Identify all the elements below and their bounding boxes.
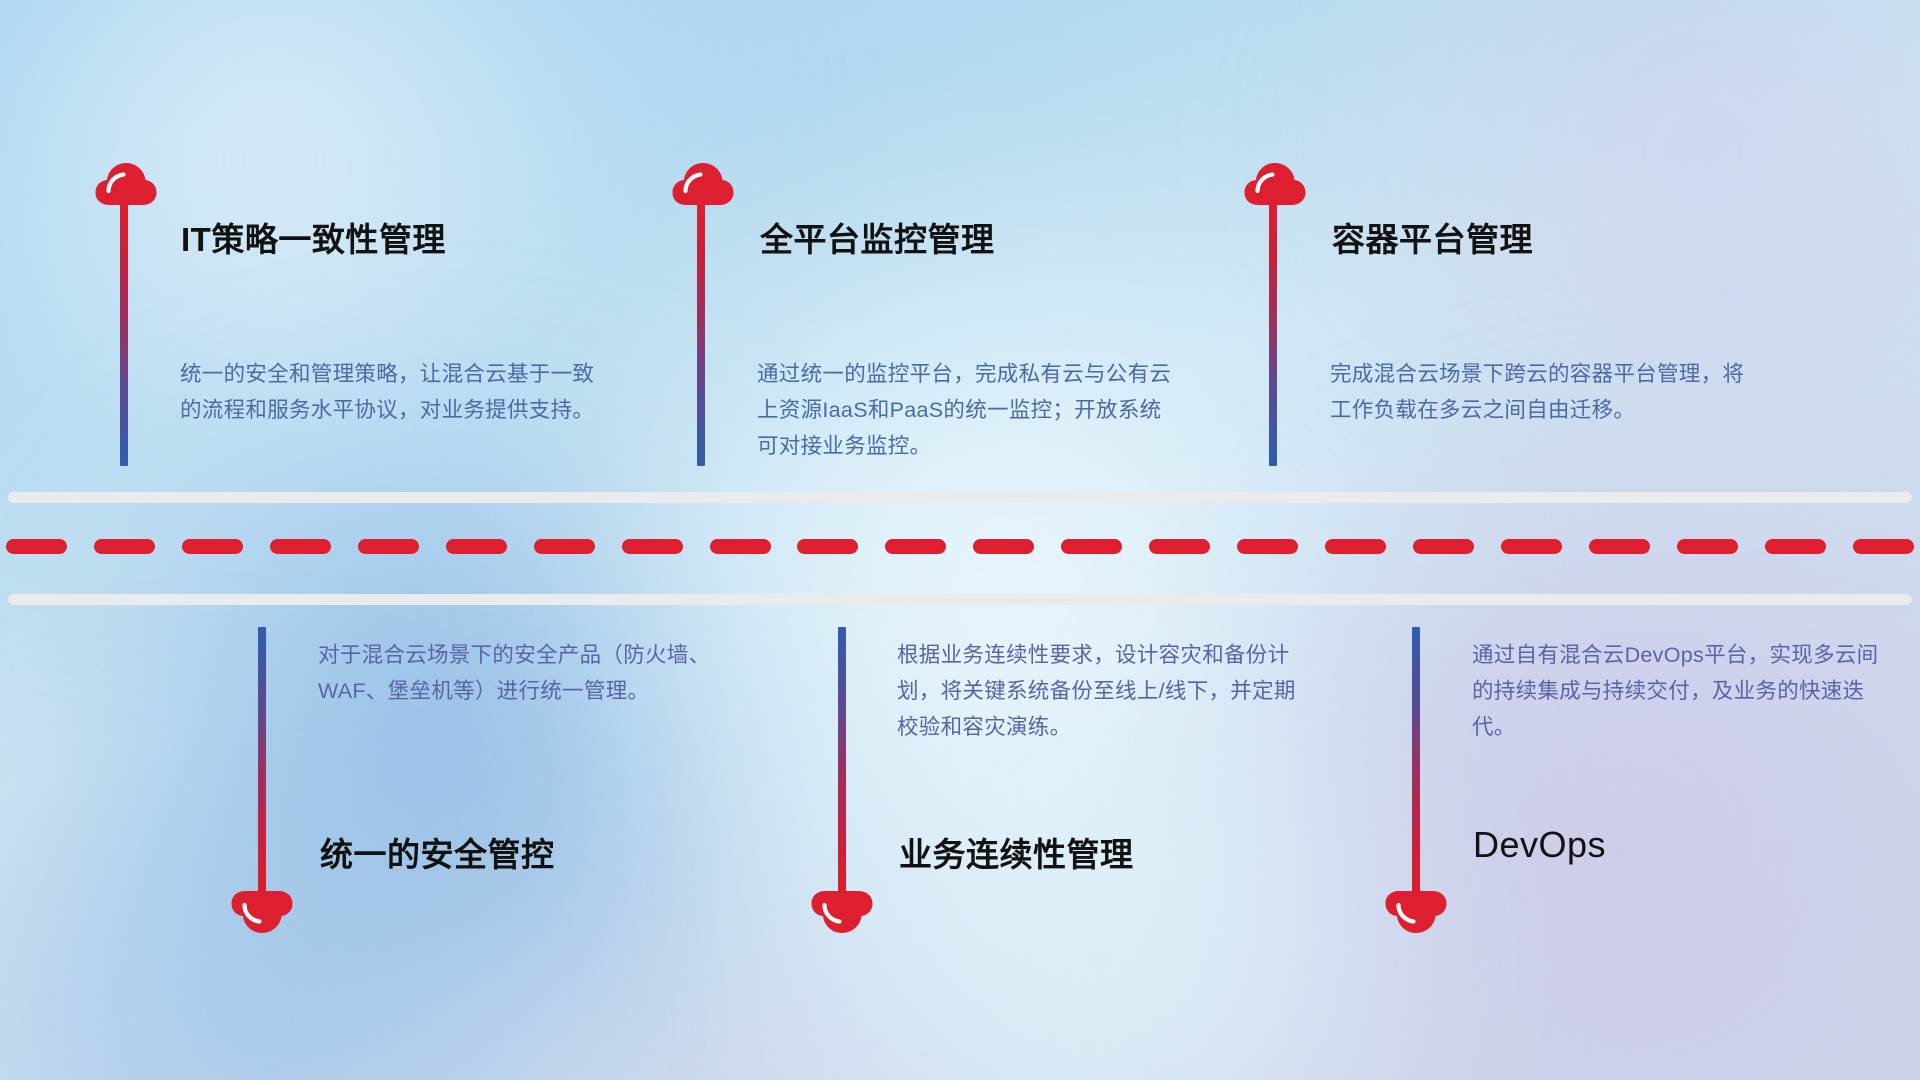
dash-segment [973, 539, 1034, 554]
dash-segment [6, 539, 67, 554]
dash-segment [710, 539, 771, 554]
dash-segment [1677, 539, 1738, 554]
column-description: 完成混合云场景下跨云的容器平台管理，将工作负载在多云之间自由迁移。 [1330, 356, 1760, 428]
cloud-icon [672, 161, 734, 206]
dash-segment [1853, 539, 1914, 554]
divider-line-top [8, 492, 1912, 503]
column-stem [697, 202, 705, 466]
column-description: 通过自有混合云DevOps平台，实现多云间的持续集成与持续交付，及业务的快速迭代… [1472, 637, 1892, 745]
cloud-icon [1244, 161, 1306, 206]
dash-segment [1237, 539, 1298, 554]
page-title: DevOps [1473, 824, 1606, 866]
column-description: 统一的安全和管理策略，让混合云基于一致的流程和服务水平协议，对业务提供支持。 [180, 356, 600, 428]
dash-segment [94, 539, 155, 554]
page-title: IT策略一致性管理 [181, 213, 446, 261]
column-stem [838, 627, 846, 892]
cloud-icon [1385, 890, 1447, 935]
dash-segment [622, 539, 683, 554]
page-title: 统一的安全管控 [320, 828, 555, 876]
dash-segment [1061, 539, 1122, 554]
dash-segment [1501, 539, 1562, 554]
dash-segment [1765, 539, 1826, 554]
dash-segment [885, 539, 946, 554]
dash-segment [1413, 539, 1474, 554]
column-description: 对于混合云场景下的安全产品（防火墙、WAF、堡垒机等）进行统一管理。 [318, 637, 738, 709]
page-title: 容器平台管理 [1332, 213, 1533, 261]
page-title: 全平台监控管理 [760, 213, 995, 261]
dash-segment [270, 539, 331, 554]
dash-segment [1325, 539, 1386, 554]
cloud-icon [231, 890, 293, 935]
column-stem [120, 202, 128, 466]
column-description: 通过统一的监控平台，完成私有云与公有云上资源IaaS和PaaS的统一监控；开放系… [757, 356, 1177, 464]
page-title: 业务连续性管理 [899, 828, 1134, 876]
column-stem [1412, 627, 1420, 892]
dash-segment [797, 539, 858, 554]
dash-segment [1589, 539, 1650, 554]
dash-segment [1149, 539, 1210, 554]
cloud-icon [811, 890, 873, 935]
column-stem [1269, 202, 1277, 466]
divider-line-bottom [8, 594, 1912, 605]
dash-segment [358, 539, 419, 554]
divider-dashed-line [0, 538, 1920, 554]
infographic-canvas: IT策略一致性管理 统一的安全和管理策略，让混合云基于一致的流程和服务水平协议，… [0, 0, 1920, 1080]
column-description: 根据业务连续性要求，设计容灾和备份计划，将关键系统备份至线上/线下，并定期校验和… [897, 637, 1317, 745]
dash-segment [182, 539, 243, 554]
dash-segment [446, 539, 507, 554]
column-stem [258, 627, 266, 892]
cloud-icon [95, 161, 157, 206]
dash-segment [534, 539, 595, 554]
